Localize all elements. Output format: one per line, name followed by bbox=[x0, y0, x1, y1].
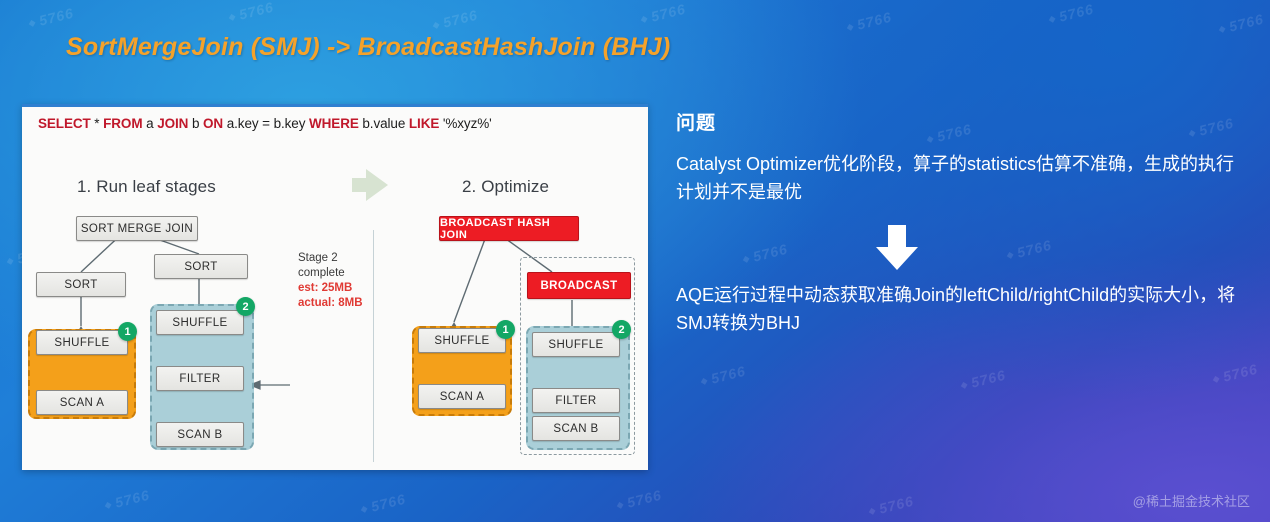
annotation-actual: actual: 8MB bbox=[298, 296, 363, 311]
diagram-image-panel: SELECT * FROM a JOIN b ON a.key = b.key … bbox=[22, 104, 648, 470]
left-stage-badge-2: 2 bbox=[236, 297, 255, 316]
watermark: 5766 bbox=[959, 367, 1008, 394]
left-node-sort-merge-join[interactable]: SORT MERGE JOIN bbox=[76, 216, 198, 241]
watermark: 5766 bbox=[1005, 237, 1054, 264]
watermark: 5766 bbox=[431, 7, 480, 34]
left-node-shuffle-a[interactable]: SHUFFLE bbox=[36, 330, 128, 355]
left-node-sort-b[interactable]: SORT bbox=[154, 254, 248, 279]
left-node-sort-a[interactable]: SORT bbox=[36, 272, 126, 297]
watermark: 5766 bbox=[27, 5, 76, 32]
right-node-filter-b[interactable]: FILTER bbox=[532, 388, 620, 413]
annotation-line-1: Stage 2 bbox=[298, 251, 363, 266]
watermark: 5766 bbox=[867, 493, 916, 520]
left-node-filter-b[interactable]: FILTER bbox=[156, 366, 244, 391]
right-node-shuffle-b[interactable]: SHUFFLE bbox=[532, 332, 620, 357]
solution-text: AQE运行过程中动态获取准确Join的leftChild/rightChild的… bbox=[676, 281, 1246, 337]
watermark: 5766 bbox=[1187, 115, 1236, 142]
annotation-estimate: est: 25MB bbox=[298, 281, 363, 296]
watermark: 5766 bbox=[699, 363, 748, 390]
problem-text: Catalyst Optimizer优化阶段，算子的statistics估算不准… bbox=[676, 150, 1236, 206]
right-stage-badge-2: 2 bbox=[612, 320, 631, 339]
right-node-broadcast[interactable]: BROADCAST bbox=[527, 272, 631, 299]
slide-title: SortMergeJoin (SMJ) -> BroadcastHashJoin… bbox=[66, 33, 670, 62]
right-node-broadcast-hash-join[interactable]: BROADCAST HASH JOIN bbox=[439, 216, 579, 241]
down-arrow-icon bbox=[876, 225, 918, 270]
right-node-shuffle-a[interactable]: SHUFFLE bbox=[418, 328, 506, 353]
watermark: 5766 bbox=[1047, 1, 1096, 28]
watermark: 5766 bbox=[103, 487, 152, 514]
left-node-shuffle-b[interactable]: SHUFFLE bbox=[156, 310, 244, 335]
watermark: 5766 bbox=[359, 491, 408, 518]
stage-annotation: Stage 2 complete est: 25MB actual: 8MB bbox=[298, 251, 363, 311]
left-node-scan-b[interactable]: SCAN B bbox=[156, 422, 244, 447]
annotation-line-2: complete bbox=[298, 266, 363, 281]
slide-canvas: 5766 5766 5766 5766 5766 5766 5766 5766 … bbox=[0, 0, 1270, 522]
watermark: 5766 bbox=[227, 0, 276, 25]
right-stage-badge-1: 1 bbox=[496, 320, 515, 339]
community-credit: @稀土掘金技术社区 bbox=[1133, 491, 1250, 510]
left-node-scan-a[interactable]: SCAN A bbox=[36, 390, 128, 415]
watermark: 5766 bbox=[1217, 11, 1266, 38]
right-node-scan-b[interactable]: SCAN B bbox=[532, 416, 620, 441]
problem-heading: 问题 bbox=[676, 108, 716, 135]
watermark: 5766 bbox=[925, 121, 974, 148]
watermark: 5766 bbox=[1211, 361, 1260, 388]
watermark: 5766 bbox=[845, 9, 894, 36]
left-stage-badge-1: 1 bbox=[118, 322, 137, 341]
right-node-scan-a[interactable]: SCAN A bbox=[418, 384, 506, 409]
watermark: 5766 bbox=[741, 241, 790, 268]
watermark: 5766 bbox=[615, 487, 664, 514]
watermark: 5766 bbox=[639, 1, 688, 28]
